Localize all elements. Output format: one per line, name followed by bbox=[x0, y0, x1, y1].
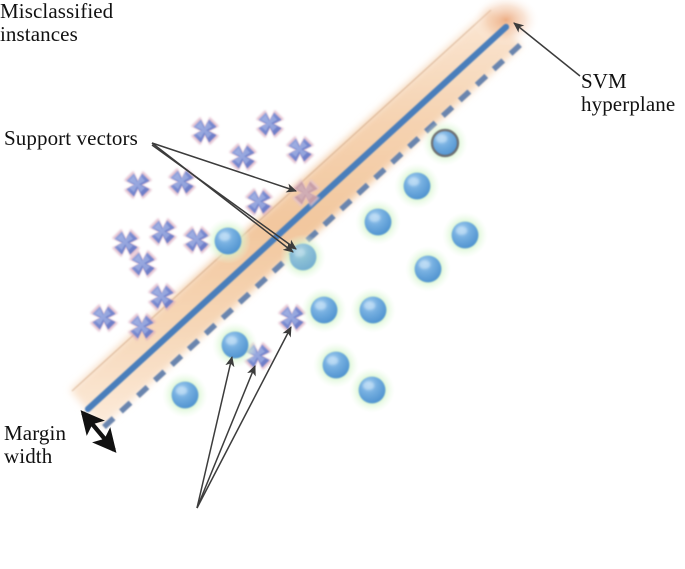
circle-marker bbox=[162, 372, 208, 418]
support-vector-circle-marker bbox=[205, 218, 251, 264]
arrow-svm-hyperplane bbox=[514, 23, 580, 76]
cross-marker bbox=[286, 136, 314, 164]
cross-marker bbox=[168, 168, 196, 196]
label-support-vectors: Support vectors bbox=[4, 127, 138, 150]
arrow-support-vector-cross bbox=[152, 143, 296, 191]
circle-marker bbox=[422, 120, 468, 166]
hyperplane-line bbox=[88, 27, 506, 409]
label-margin-width: Margin width bbox=[4, 422, 66, 468]
support-vector-circle-marker bbox=[280, 234, 326, 280]
cross-marker bbox=[191, 117, 219, 145]
cross-marker bbox=[124, 171, 152, 199]
label-misclassified-instances: Misclassified instances bbox=[0, 0, 113, 46]
svm-diagram-figure: Support vectors SVM hyperplane Margin wi… bbox=[0, 0, 685, 569]
cross-marker bbox=[256, 110, 284, 138]
arrow-misclassified-circle bbox=[197, 357, 232, 508]
cross-marker bbox=[149, 218, 177, 246]
circle-marker bbox=[355, 199, 401, 245]
circle-marker bbox=[212, 322, 258, 368]
circle-marker bbox=[349, 367, 395, 413]
circle-marker bbox=[394, 163, 440, 209]
label-svm-hyperplane: SVM hyperplane bbox=[581, 70, 675, 116]
hyperplane-group bbox=[88, 27, 506, 409]
cross-marker bbox=[229, 143, 257, 171]
circle-marker bbox=[301, 287, 347, 333]
circle-marker bbox=[350, 287, 396, 333]
cross-marker bbox=[90, 304, 118, 332]
circle-marker bbox=[442, 212, 488, 258]
circle-marker bbox=[405, 246, 451, 292]
